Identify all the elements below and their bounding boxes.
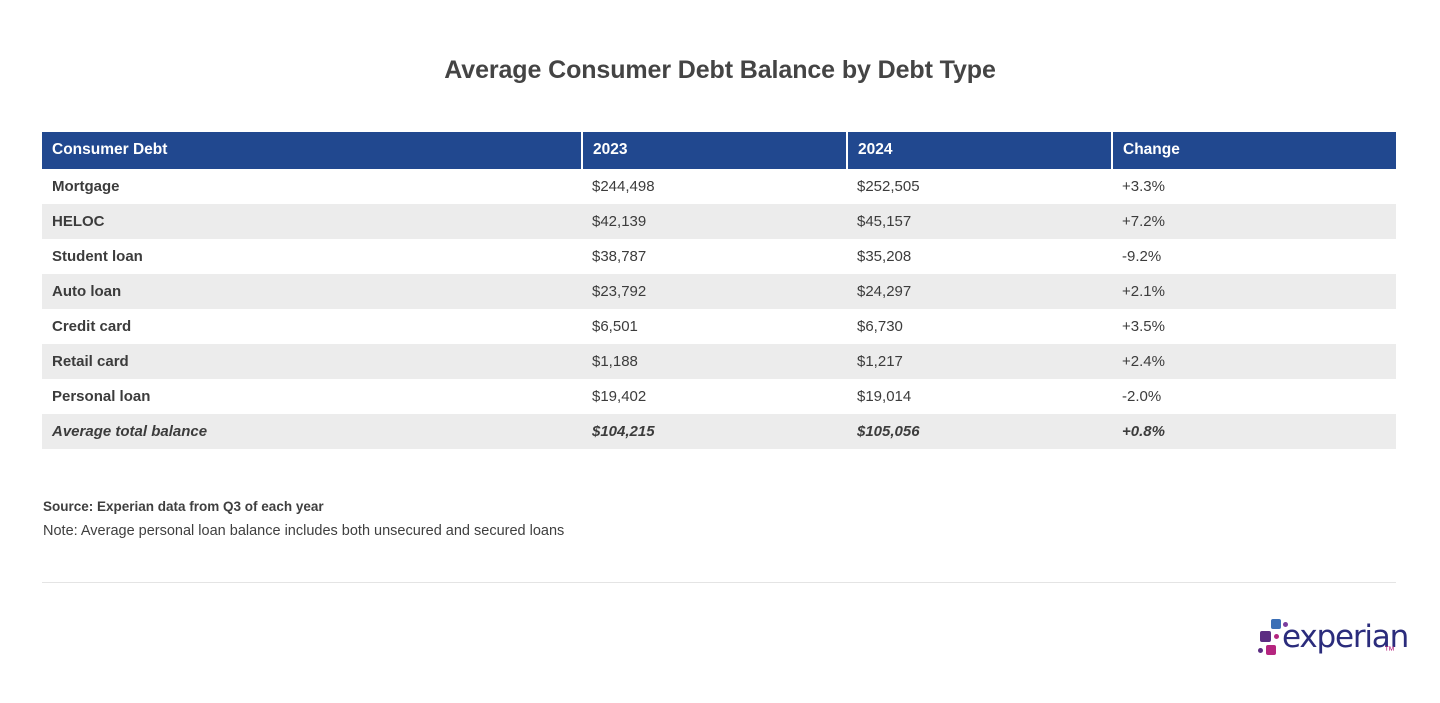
cell-label: HELOC — [42, 204, 582, 239]
horizontal-divider — [42, 582, 1396, 583]
cell-y2024: $1,217 — [847, 344, 1112, 379]
experian-logo: experian ™ — [1258, 617, 1394, 663]
table-row: Credit card$6,501$6,730+3.5% — [42, 309, 1396, 344]
cell-y2023: $23,792 — [582, 274, 847, 309]
cell-y2024: $45,157 — [847, 204, 1112, 239]
cell-change: +0.8% — [1112, 414, 1396, 449]
cell-y2023: $6,501 — [582, 309, 847, 344]
table-row: Personal loan$19,402$19,014-2.0% — [42, 379, 1396, 414]
logo-square-magenta — [1266, 645, 1276, 655]
cell-y2024: $19,014 — [847, 379, 1112, 414]
logo-dot-purple-sm — [1258, 648, 1263, 653]
cell-y2023: $104,215 — [582, 414, 847, 449]
cell-y2024: $24,297 — [847, 274, 1112, 309]
cell-change: -2.0% — [1112, 379, 1396, 414]
cell-change: +7.2% — [1112, 204, 1396, 239]
cell-change: +2.4% — [1112, 344, 1396, 379]
cell-label: Retail card — [42, 344, 582, 379]
cell-y2023: $42,139 — [582, 204, 847, 239]
column-header-change[interactable]: Change — [1112, 132, 1396, 169]
infographic-page: Average Consumer Debt Balance by Debt Ty… — [0, 0, 1440, 703]
table-row: HELOC$42,139$45,157+7.2% — [42, 204, 1396, 239]
debt-table-container: Consumer Debt 2023 2024 Change Mortgage$… — [42, 132, 1396, 449]
column-header-2024[interactable]: 2024 — [847, 132, 1112, 169]
column-header-consumer-debt[interactable]: Consumer Debt — [42, 132, 582, 169]
footnotes: Source: Experian data from Q3 of each ye… — [43, 494, 564, 544]
table-row: Average total balance$104,215$105,056+0.… — [42, 414, 1396, 449]
trademark-symbol: ™ — [1384, 645, 1395, 657]
table-header: Consumer Debt 2023 2024 Change — [42, 132, 1396, 169]
table-row: Retail card$1,188$1,217+2.4% — [42, 344, 1396, 379]
footnote-source: Source: Experian data from Q3 of each ye… — [43, 494, 564, 519]
cell-label: Personal loan — [42, 379, 582, 414]
cell-label: Auto loan — [42, 274, 582, 309]
cell-label: Mortgage — [42, 169, 582, 204]
cell-label: Credit card — [42, 309, 582, 344]
cell-y2024: $6,730 — [847, 309, 1112, 344]
table-row: Student loan$38,787$35,208-9.2% — [42, 239, 1396, 274]
cell-y2023: $38,787 — [582, 239, 847, 274]
cell-y2023: $19,402 — [582, 379, 847, 414]
cell-y2023: $1,188 — [582, 344, 847, 379]
cell-label: Student loan — [42, 239, 582, 274]
cell-y2024: $105,056 — [847, 414, 1112, 449]
cell-change: +3.3% — [1112, 169, 1396, 204]
cell-label: Average total balance — [42, 414, 582, 449]
table-row: Mortgage$244,498$252,505+3.3% — [42, 169, 1396, 204]
column-header-2023[interactable]: 2023 — [582, 132, 847, 169]
debt-table: Consumer Debt 2023 2024 Change Mortgage$… — [42, 132, 1396, 449]
logo-square-purple — [1260, 631, 1271, 642]
page-title: Average Consumer Debt Balance by Debt Ty… — [0, 56, 1440, 85]
cell-y2024: $35,208 — [847, 239, 1112, 274]
logo-square-blue — [1271, 619, 1281, 629]
cell-y2024: $252,505 — [847, 169, 1112, 204]
table-body: Mortgage$244,498$252,505+3.3%HELOC$42,13… — [42, 169, 1396, 449]
logo-dot-magenta — [1274, 634, 1279, 639]
cell-y2023: $244,498 — [582, 169, 847, 204]
table-header-row: Consumer Debt 2023 2024 Change — [42, 132, 1396, 169]
cell-change: +3.5% — [1112, 309, 1396, 344]
cell-change: +2.1% — [1112, 274, 1396, 309]
footnote-note: Note: Average personal loan balance incl… — [43, 519, 564, 544]
cell-change: -9.2% — [1112, 239, 1396, 274]
table-row: Auto loan$23,792$24,297+2.1% — [42, 274, 1396, 309]
